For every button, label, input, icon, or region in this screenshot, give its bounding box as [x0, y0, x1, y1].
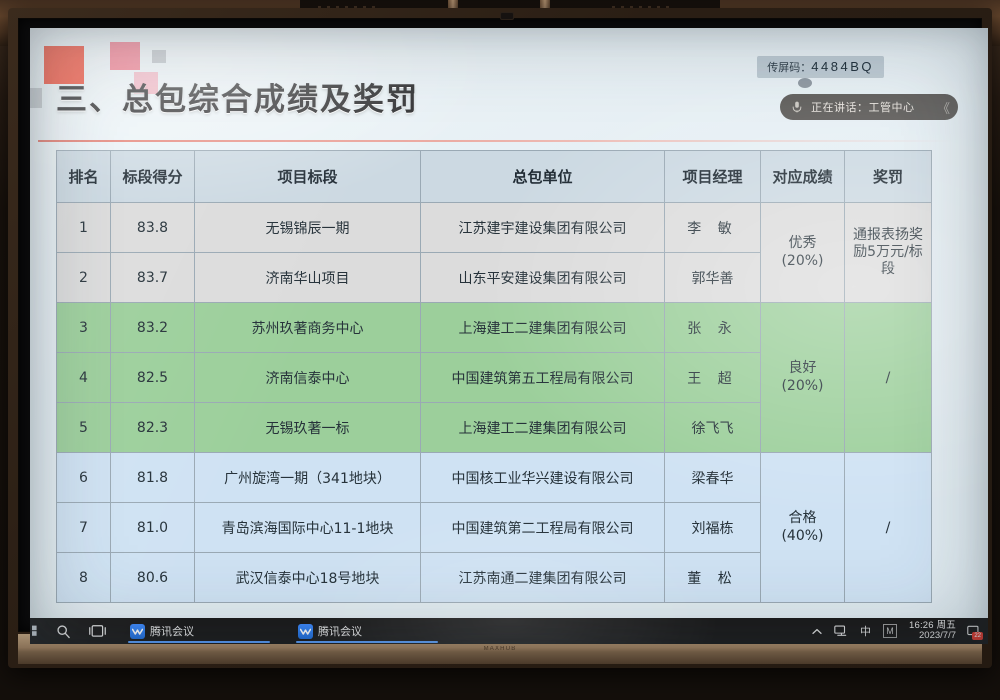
cast-code-chip: 传屏码：4484BQ: [757, 56, 884, 78]
cell-contractor: 江苏建宇建设集团有限公司: [421, 203, 665, 253]
cell-project: 苏州玖著商务中心: [195, 303, 421, 353]
title-underline-rule: [38, 140, 953, 142]
cell-rank: 4: [57, 353, 111, 403]
taskbar-task-tencent-meeting-1[interactable]: 腾讯会议: [124, 618, 274, 644]
cell-project: 济南信泰中心: [195, 353, 421, 403]
cell-manager: 梁春华: [665, 453, 761, 503]
active-speaker-label: 正在讲话：工管中心: [811, 99, 930, 115]
taskbar-task-label: 腾讯会议: [318, 623, 362, 639]
title-row: 三、总包综合成绩及奖罚: [56, 74, 476, 119]
cell-rank: 1: [57, 203, 111, 253]
cell-score: 83.2: [111, 303, 195, 353]
cell-rank: 8: [57, 553, 111, 603]
cell-grade-excellent: 优秀 (20%): [761, 203, 845, 303]
table-row: 6 81.8 广州旋湾一期（341地块） 中国核工业华兴建设有限公司 梁春华 合…: [57, 453, 932, 503]
grade-percent: (20%): [765, 253, 840, 271]
cell-contractor: 中国建筑第五工程局有限公司: [421, 353, 665, 403]
cast-code-value: 4484BQ: [811, 59, 874, 74]
cell-score: 83.7: [111, 253, 195, 303]
cell-grade-pass: 合格 (40%): [761, 453, 845, 603]
system-tray: 中 M 16:26 周五 2023/7/7 22: [806, 618, 988, 644]
ime-indicator[interactable]: 中: [854, 618, 877, 644]
cell-contractor: 山东平安建设集团有限公司: [421, 253, 665, 303]
cell-score: 81.8: [111, 453, 195, 503]
col-header-score: 标段得分: [111, 151, 195, 203]
cell-rank: 2: [57, 253, 111, 303]
chevron-left-icon[interactable]: 《: [937, 98, 948, 117]
display-bezel: MAXHUB 三、总包综合成绩及奖罚: [8, 8, 992, 668]
grade-table: 排名 标段得分 项目标段 总包单位 项目经理 对应成绩 奖罚 1: [56, 150, 932, 603]
col-header-contractor: 总包单位: [421, 151, 665, 203]
grade-label: 优秀: [765, 235, 840, 253]
cell-score: 82.3: [111, 403, 195, 453]
clock-date: 2023/7/7: [919, 631, 956, 641]
cell-manager: 刘福栋: [665, 503, 761, 553]
windows-taskbar: 腾讯会议 腾讯会议: [30, 618, 988, 644]
table-body: 1 83.8 无锡锦辰一期 江苏建宇建设集团有限公司 李 敏 优秀 (20%) …: [57, 203, 932, 603]
cell-project: 广州旋湾一期（341地块）: [195, 453, 421, 503]
task-active-underline: [128, 641, 270, 643]
cell-award-good: /: [845, 303, 932, 453]
cell-project: 青岛滨海国际中心11-1地块: [195, 503, 421, 553]
grade-label: 合格: [765, 510, 840, 528]
taskbar-task-label: 腾讯会议: [150, 623, 194, 639]
cell-project: 无锡锦辰一期: [195, 203, 421, 253]
cell-score: 83.8: [111, 203, 195, 253]
cell-grade-good: 良好 (20%): [761, 303, 845, 453]
windows-start-icon[interactable]: [30, 618, 46, 644]
cell-score: 80.6: [111, 553, 195, 603]
grade-percent: (20%): [765, 378, 840, 396]
deco-square-pink: [110, 42, 140, 70]
table-header: 排名 标段得分 项目标段 总包单位 项目经理 对应成绩 奖罚: [57, 151, 932, 203]
taskbar-task-tencent-meeting-2[interactable]: 腾讯会议: [292, 618, 442, 644]
deco-square-gray-small: [152, 50, 166, 63]
cell-manager: 董 松: [665, 553, 761, 603]
table-header-row: 排名 标段得分 项目标段 总包单位 项目经理 对应成绩 奖罚: [57, 151, 932, 203]
col-header-award: 奖罚: [845, 151, 932, 203]
col-header-rank: 排名: [57, 151, 111, 203]
cell-award-pass: /: [845, 453, 932, 603]
cell-manager: 郭华善: [665, 253, 761, 303]
active-speaker-chip[interactable]: 正在讲话：工管中心 《: [780, 94, 958, 120]
grade-label: 良好: [765, 360, 840, 378]
cell-contractor: 中国建筑第二工程局有限公司: [421, 503, 665, 553]
cell-project: 武汉信泰中心18号地块: [195, 553, 421, 603]
page-title: 三、总包综合成绩及奖罚: [56, 74, 476, 119]
cell-award-excellent: 通报表扬奖励5万元/标段: [845, 203, 932, 303]
table-container: 排名 标段得分 项目标段 总包单位 项目经理 对应成绩 奖罚 1: [56, 150, 931, 603]
col-header-project: 项目标段: [195, 151, 421, 203]
microphone-icon: [790, 100, 804, 114]
cell-rank: 6: [57, 453, 111, 503]
tray-app-label: M: [883, 624, 897, 638]
mouse-cursor: [798, 78, 812, 88]
grade-percent: (40%): [765, 528, 840, 546]
cell-manager: 张 永: [665, 303, 761, 353]
cell-project: 济南华山项目: [195, 253, 421, 303]
cell-contractor: 上海建工二建集团有限公司: [421, 303, 665, 353]
cast-code-label: 传屏码：: [767, 62, 811, 74]
network-icon[interactable]: [828, 618, 854, 644]
task-view-icon[interactable]: [80, 618, 114, 644]
cell-manager: 徐飞飞: [665, 403, 761, 453]
deco-square-gray-edge: [30, 88, 42, 108]
cell-manager: 李 敏: [665, 203, 761, 253]
table-row: 1 83.8 无锡锦辰一期 江苏建宇建设集团有限公司 李 敏 优秀 (20%) …: [57, 203, 932, 253]
brand-label: MAXHUB: [484, 646, 517, 652]
table-row: 3 83.2 苏州玖著商务中心 上海建工二建集团有限公司 张 永 良好 (20%…: [57, 303, 932, 353]
notification-icon[interactable]: 22: [962, 618, 984, 644]
screen-content: 三、总包综合成绩及奖罚 排名 标段得分 项目标段 总包单位: [30, 28, 988, 644]
chevron-up-icon[interactable]: [806, 618, 828, 644]
cell-rank: 3: [57, 303, 111, 353]
cell-contractor: 中国核工业华兴建设有限公司: [421, 453, 665, 503]
col-header-manager: 项目经理: [665, 151, 761, 203]
taskbar-left: 腾讯会议 腾讯会议: [30, 618, 442, 644]
tencent-meeting-icon: [298, 624, 313, 639]
tencent-meeting-icon: [130, 624, 145, 639]
cell-manager: 王 超: [665, 353, 761, 403]
cell-score: 81.0: [111, 503, 195, 553]
cell-score: 82.5: [111, 353, 195, 403]
camera-sensor: [500, 12, 514, 20]
search-icon[interactable]: [46, 618, 80, 644]
cell-project: 无锡玖著一标: [195, 403, 421, 453]
clock[interactable]: 16:26 周五 2023/7/7: [903, 621, 962, 641]
cell-contractor: 上海建工二建集团有限公司: [421, 403, 665, 453]
cell-rank: 5: [57, 403, 111, 453]
task-active-underline: [296, 641, 438, 643]
cell-rank: 7: [57, 503, 111, 553]
tray-app-icon[interactable]: M: [877, 618, 903, 644]
notification-badge: 22: [972, 632, 983, 640]
col-header-grade: 对应成绩: [761, 151, 845, 203]
cell-contractor: 江苏南通二建集团有限公司: [421, 553, 665, 603]
